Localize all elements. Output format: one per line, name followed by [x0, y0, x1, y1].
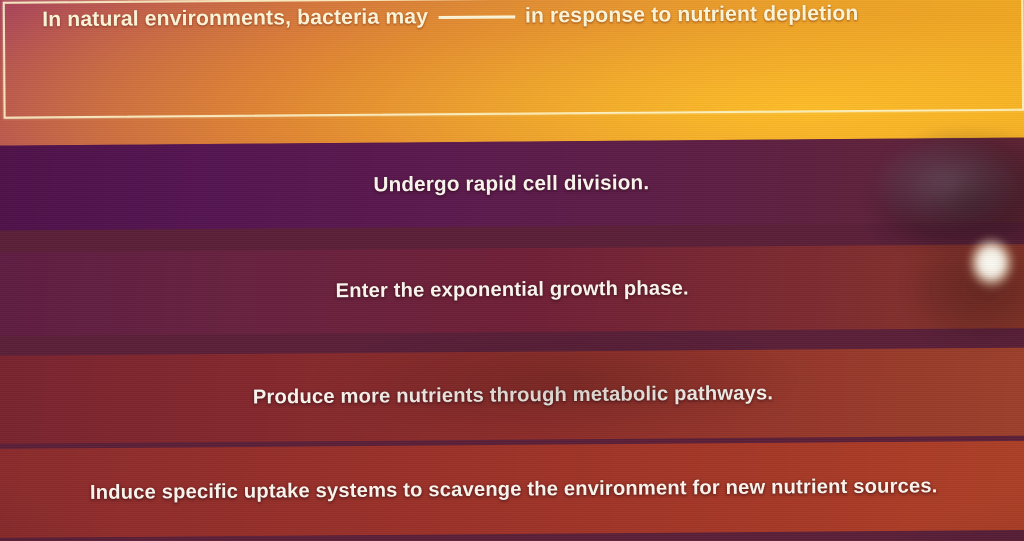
answer-option-3-label: Produce more nutrients through metabolic… — [238, 382, 787, 410]
question-text-after-blank: in response to nutrient depletion — [525, 1, 859, 27]
answer-options-list: Undergo rapid cell division. Enter the e… — [0, 137, 1024, 541]
answer-option-4[interactable]: Induce specific uptake systems to scaven… — [0, 441, 1024, 538]
answer-option-4-label: Induce specific uptake systems to scaven… — [75, 474, 952, 505]
screen-tilt-wrapper: In natural environments, bacteria may in… — [0, 0, 1024, 541]
answer-option-3[interactable]: Produce more nutrients through metabolic… — [0, 348, 1024, 444]
question-box: In natural environments, bacteria may in… — [3, 0, 1024, 119]
question-text-before-blank: In natural environments, bacteria may — [42, 5, 428, 32]
quiz-screen: In natural environments, bacteria may in… — [0, 0, 1024, 541]
answer-option-1[interactable]: Undergo rapid cell division. — [0, 137, 1024, 230]
question-panel: In natural environments, bacteria may in… — [0, 0, 1024, 146]
question-text: In natural environments, bacteria may in… — [42, 0, 1009, 32]
question-blank — [438, 15, 515, 19]
answer-option-1-label: Undergo rapid cell division. — [359, 171, 664, 197]
answer-option-2-label: Enter the exponential growth phase. — [321, 277, 703, 304]
answer-option-2[interactable]: Enter the exponential growth phase. — [0, 244, 1024, 336]
